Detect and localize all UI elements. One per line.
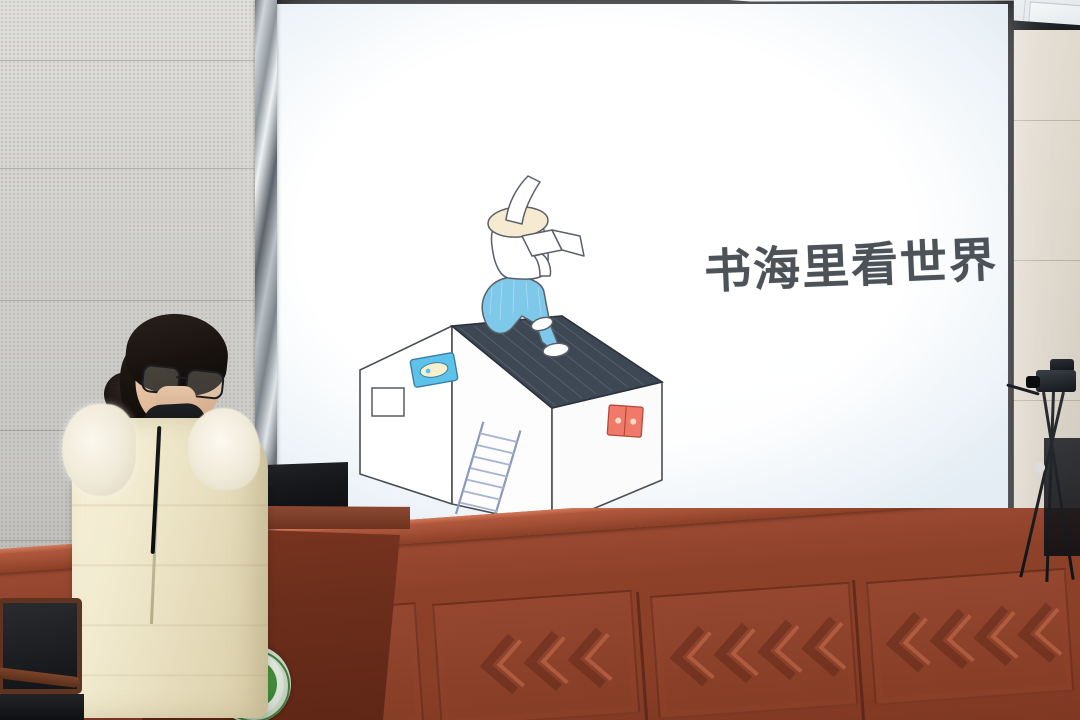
projection-screen: 书海里看世界 (276, 4, 1008, 582)
video-camera-on-tripod (1028, 370, 1080, 600)
fur-collar-left (62, 404, 136, 496)
wood-panel (650, 582, 858, 720)
chair-seat (0, 694, 84, 720)
wooden-chair (0, 598, 90, 720)
slide-title: 书海里看世界 (703, 236, 999, 295)
lecture-hall-photo: 书海里看世界 (0, 0, 1080, 720)
slide-illustration (356, 174, 686, 534)
wall-seam (1006, 120, 1080, 121)
fur-collar-right (188, 408, 260, 490)
wall-seam (1006, 260, 1080, 261)
camera-body (1036, 370, 1076, 392)
camera-lens-icon (1026, 376, 1040, 388)
wood-panel (432, 590, 640, 720)
wall-seam (0, 168, 268, 169)
wall-seam (0, 300, 268, 301)
presenter-person (58, 330, 288, 720)
tripod-knob (1034, 462, 1045, 473)
wall-seam (0, 60, 268, 61)
